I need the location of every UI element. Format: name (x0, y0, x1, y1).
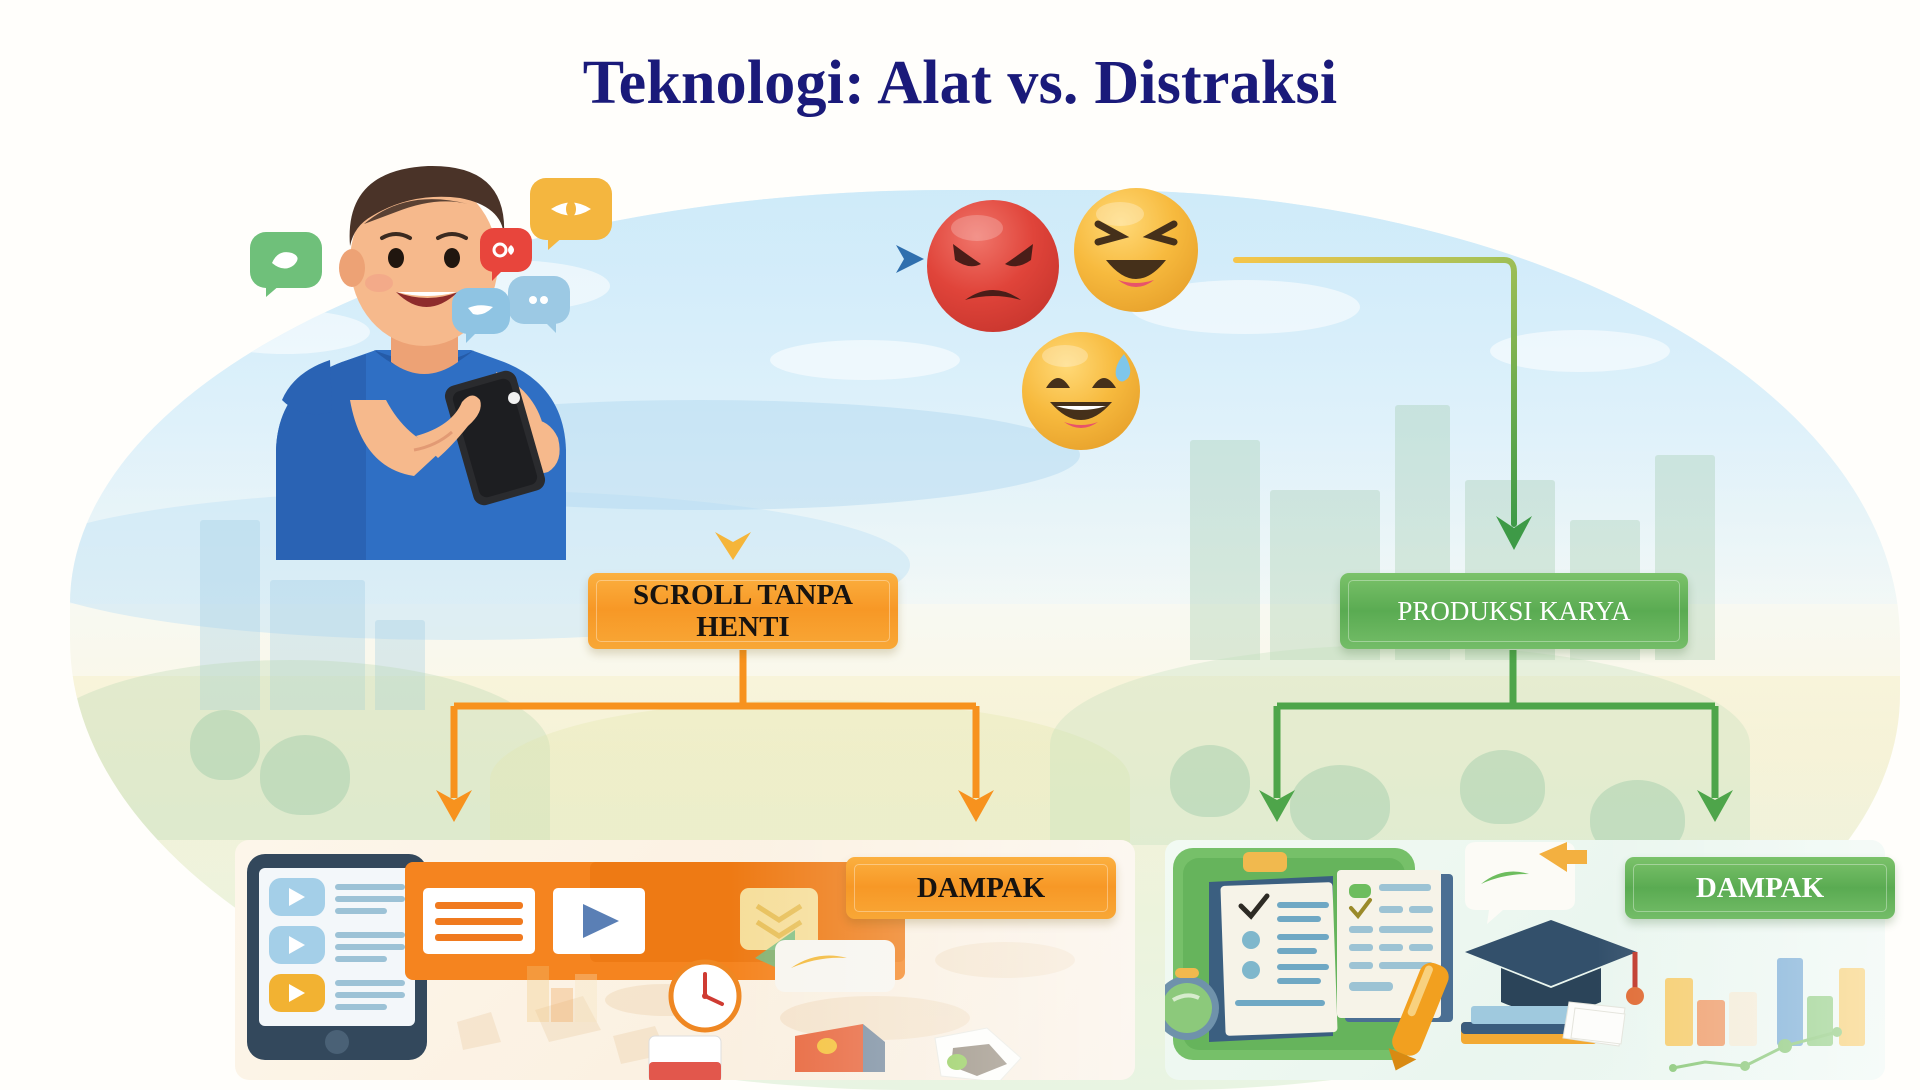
cloud (770, 340, 960, 380)
flow-box-produksi-karya[interactable]: PRODUKSI KARYA (1340, 573, 1688, 649)
slide-canvas: Teknologi: Alat vs. Distraksi (0, 0, 1920, 1080)
tree (260, 735, 350, 815)
emoji-laughing-icon (1072, 186, 1200, 314)
flow-box-dampak-right[interactable]: DAMPAK (1625, 857, 1895, 919)
chat-bubble-green-icon (250, 232, 322, 288)
chat-bubble-bird-icon (452, 288, 510, 334)
arrow-person-to-scroll-icon (705, 488, 761, 566)
emoji-angry-icon (925, 198, 1061, 334)
elbow-emojis-to-produksi-icon (1230, 248, 1570, 578)
tree (190, 710, 260, 780)
page-title: Teknologi: Alat vs. Distraksi (0, 48, 1920, 119)
branch-scroll-to-outcomes-icon (430, 648, 1000, 838)
flow-box-scroll-tanpa-henti[interactable]: SCROLL TANPA HENTI (588, 573, 898, 649)
flow-box-dampak-left[interactable]: DAMPAK (846, 857, 1116, 919)
branch-produksi-to-outcomes-icon (1255, 648, 1735, 838)
arrow-person-to-emojis-icon (600, 230, 940, 300)
emoji-sweat-smile-icon (1020, 330, 1142, 452)
chat-bubble-blue-icon (508, 276, 570, 324)
tree (1170, 745, 1250, 817)
chat-bubble-heart-icon (480, 228, 532, 272)
